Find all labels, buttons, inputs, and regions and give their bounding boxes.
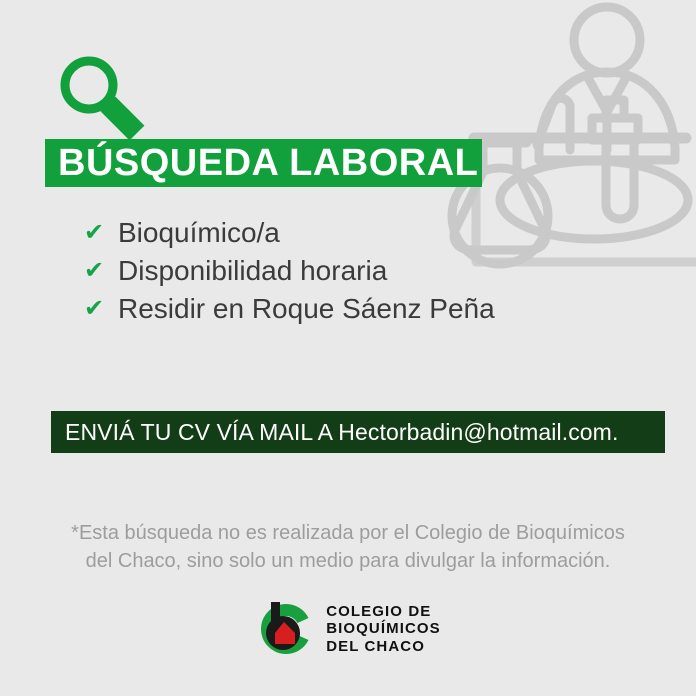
requirements-list: ✔ Bioquímico/a ✔ Disponibilidad horaria … bbox=[84, 214, 495, 328]
logo-wordmark: COLEGIO DE BIOQUÍMICOS DEL CHACO bbox=[326, 603, 441, 655]
title-banner: BÚSQUEDA LABORAL bbox=[45, 139, 482, 187]
list-item: ✔ Residir en Roque Sáenz Peña bbox=[84, 290, 495, 327]
brand-logo: COLEGIO DE BIOQUÍMICOS DEL CHACO bbox=[0, 600, 696, 658]
check-icon: ✔ bbox=[84, 297, 118, 321]
list-item: ✔ Bioquímico/a bbox=[84, 214, 495, 251]
list-item: ✔ Disponibilidad horaria bbox=[84, 252, 495, 289]
cta-email-banner: ENVIÁ TU CV VÍA MAIL A Hectorbadin@hotma… bbox=[51, 411, 665, 453]
check-icon: ✔ bbox=[84, 259, 118, 283]
requirement-label: Residir en Roque Sáenz Peña bbox=[118, 294, 495, 323]
search-icon bbox=[55, 52, 151, 144]
logo-line-1: COLEGIO DE bbox=[326, 603, 441, 620]
check-icon: ✔ bbox=[84, 221, 118, 245]
logo-line-3: DEL CHACO bbox=[326, 638, 441, 655]
disclaimer: *Esta búsqueda no es realizada por el Co… bbox=[0, 519, 696, 576]
disclaimer-line-1: *Esta búsqueda no es realizada por el Co… bbox=[30, 519, 666, 547]
logo-line-2: BIOQUÍMICOS bbox=[326, 620, 441, 637]
page-title: BÚSQUEDA LABORAL bbox=[45, 144, 478, 182]
cta-email-text: ENVIÁ TU CV VÍA MAIL A Hectorbadin@hotma… bbox=[51, 421, 618, 444]
requirement-label: Bioquímico/a bbox=[118, 218, 280, 247]
poster-canvas: BÚSQUEDA LABORAL ✔ Bioquímico/a ✔ Dispon… bbox=[0, 0, 696, 696]
colegio-logo-icon bbox=[255, 600, 317, 658]
disclaimer-line-2: del Chaco, sino solo un medio para divul… bbox=[30, 547, 666, 575]
requirement-label: Disponibilidad horaria bbox=[118, 256, 387, 285]
